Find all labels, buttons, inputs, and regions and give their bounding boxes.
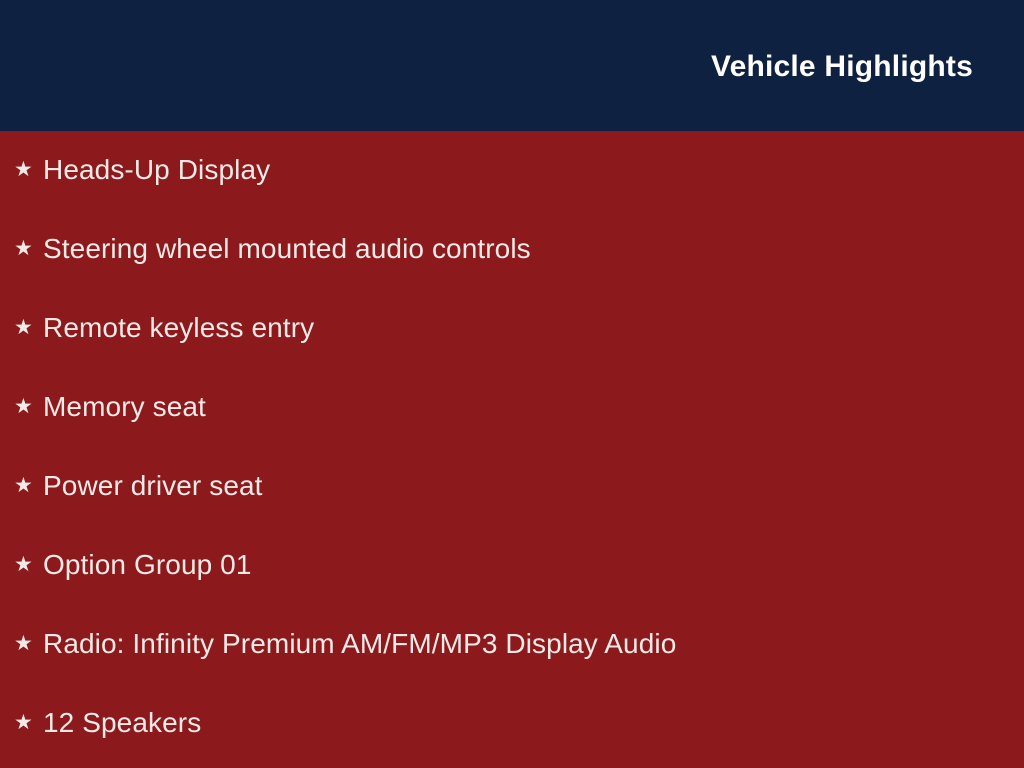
star-icon: ★ bbox=[14, 159, 43, 180]
header-band: Vehicle Highlights bbox=[0, 0, 1024, 131]
list-item-label: Memory seat bbox=[43, 392, 206, 423]
star-icon: ★ bbox=[14, 712, 43, 733]
list-item: ★ Steering wheel mounted audio controls bbox=[0, 210, 1024, 289]
list-item-label: Option Group 01 bbox=[43, 550, 252, 581]
list-item: ★ Remote keyless entry bbox=[0, 289, 1024, 368]
star-icon: ★ bbox=[14, 317, 43, 338]
list-item-label: Steering wheel mounted audio controls bbox=[43, 234, 531, 265]
star-icon: ★ bbox=[14, 396, 43, 417]
list-item-label: Power driver seat bbox=[43, 471, 263, 502]
list-item: ★ Radio: Infinity Premium AM/FM/MP3 Disp… bbox=[0, 605, 1024, 684]
list-item: ★ 12 Speakers bbox=[0, 684, 1024, 763]
vehicle-highlights-slide: Vehicle Highlights ★ Heads-Up Display ★ … bbox=[0, 0, 1024, 768]
page-title: Vehicle Highlights bbox=[711, 0, 973, 131]
star-icon: ★ bbox=[14, 475, 43, 496]
star-icon: ★ bbox=[14, 238, 43, 259]
list-item-label: 12 Speakers bbox=[43, 708, 201, 739]
list-item-label: Heads-Up Display bbox=[43, 155, 270, 186]
list-item: ★ Option Group 01 bbox=[0, 526, 1024, 605]
list-item: ★ Memory seat bbox=[0, 368, 1024, 447]
highlights-body: ★ Heads-Up Display ★ Steering wheel moun… bbox=[0, 131, 1024, 768]
vehicle-highlights-list: ★ Heads-Up Display ★ Steering wheel moun… bbox=[0, 131, 1024, 763]
star-icon: ★ bbox=[14, 554, 43, 575]
list-item-label: Radio: Infinity Premium AM/FM/MP3 Displa… bbox=[43, 629, 676, 660]
list-item: ★ Power driver seat bbox=[0, 447, 1024, 526]
list-item: ★ Heads-Up Display bbox=[0, 131, 1024, 210]
list-item-label: Remote keyless entry bbox=[43, 313, 314, 344]
star-icon: ★ bbox=[14, 633, 43, 654]
